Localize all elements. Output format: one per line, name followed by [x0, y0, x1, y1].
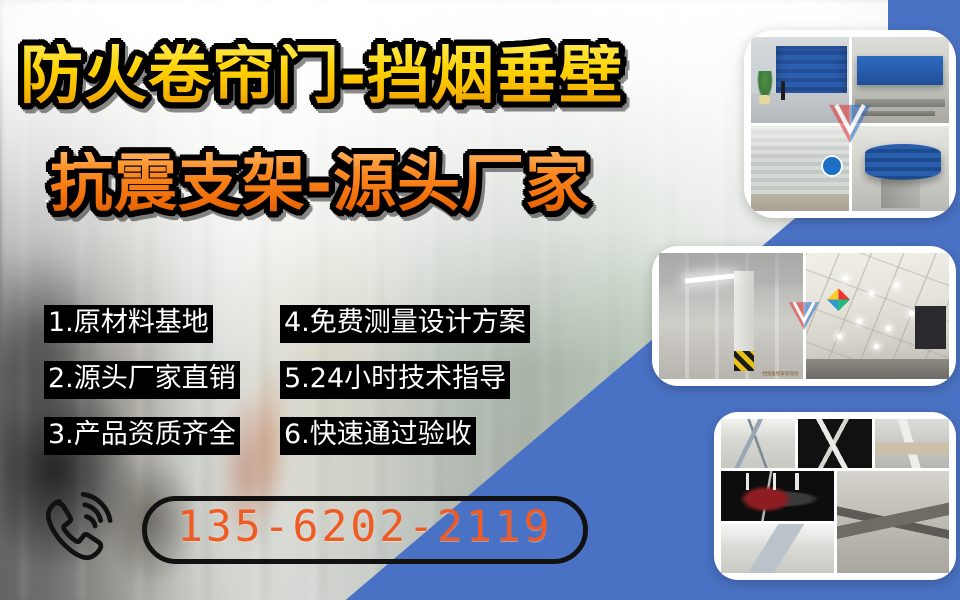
- photo-finished-ceiling: [806, 253, 950, 379]
- advertisement-banner: 防火卷帘门-挡烟垂壁 防火卷帘门-挡烟垂壁 抗震支架-源头厂家 抗震支架-源头厂…: [0, 0, 960, 600]
- photo-galvanized-shutter: [751, 126, 849, 212]
- feature-item: 1.原材料基地: [44, 296, 280, 352]
- collage-fire-shutter-doors: [744, 30, 956, 218]
- photo-duct-hanger-detail: [721, 524, 834, 573]
- photo-caption: 挡烟垂壁安装现场: [763, 371, 799, 377]
- photo-cable-tray-brace: [721, 419, 795, 468]
- phone-number: 135-6202-2119: [177, 505, 553, 550]
- feature-item: 4.免费测量设计方案: [280, 296, 564, 352]
- feature-item: 6.快速通过验收: [280, 408, 564, 464]
- feature-label: 2.源头厂家直销: [44, 361, 240, 400]
- feature-item: 5.24小时技术指导: [280, 352, 564, 408]
- photo-pipe-clamp-duct: [875, 419, 949, 468]
- feature-list: 1.原材料基地 4.免费测量设计方案 2.源头厂家直销 5.24小时技术指导 3…: [44, 296, 564, 464]
- feature-label: 1.原材料基地: [44, 305, 213, 344]
- photo-red-fan-hangers: [721, 471, 834, 520]
- feature-label: 4.免费测量设计方案: [280, 305, 530, 344]
- feature-item: 2.源头厂家直销: [44, 352, 280, 408]
- feature-label: 3.产品资质齐全: [44, 417, 240, 456]
- headline-secondary: 抗震支架-源头厂家: [50, 152, 589, 215]
- photo-large-ceiling-fan: [837, 471, 950, 573]
- photo-roll-forming-machine: [852, 37, 950, 123]
- feature-item: 3.产品资质齐全: [44, 408, 280, 464]
- photo-sway-brace-clamp: [798, 419, 872, 468]
- collage-installation-sites: 挡烟垂壁安装现场: [652, 246, 956, 386]
- feature-label: 5.24小时技术指导: [280, 361, 510, 400]
- feature-label: 6.快速通过验收: [280, 417, 476, 456]
- phone-number-pill[interactable]: 135-6202-2119: [142, 496, 588, 563]
- collage-seismic-bracing: [714, 412, 956, 580]
- headline-primary: 防火卷帘门-挡烟垂壁: [20, 44, 623, 107]
- photo-parking-garage: 挡烟垂壁安装现场: [659, 253, 803, 379]
- phone-call-icon: [40, 492, 120, 568]
- contact-phone-row[interactable]: 135-6202-2119: [40, 492, 588, 568]
- photo-shutter-coil-drum: [852, 126, 950, 212]
- photo-rolling-shutter-lobby: [751, 37, 849, 123]
